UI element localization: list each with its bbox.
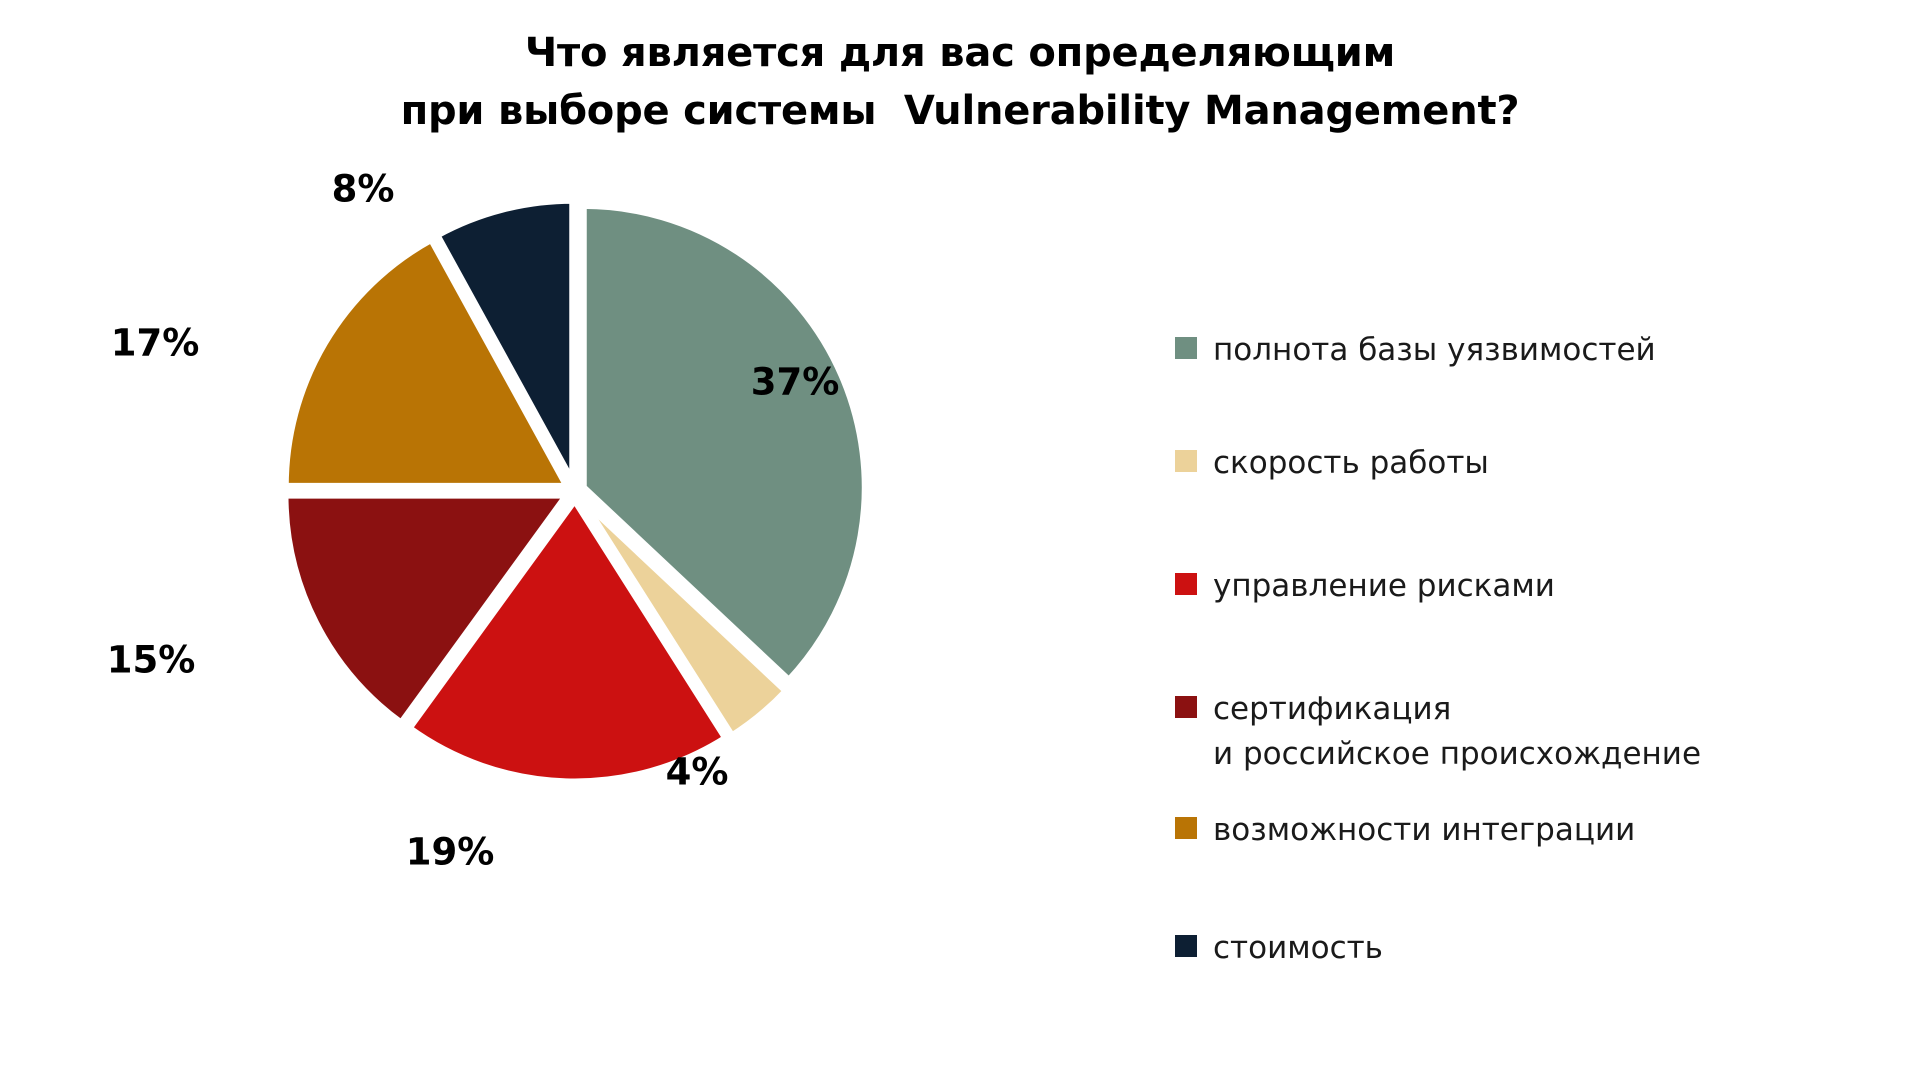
legend-item-label: скорость работы [1213, 441, 1489, 486]
pie-chart-svg [0, 0, 1920, 1080]
pie-chart: 37%4%19%15%17%8% [0, 0, 1920, 1080]
pie-value-label: 8% [332, 168, 395, 211]
pie-value-label: 17% [111, 322, 200, 365]
legend-swatch-icon [1175, 450, 1197, 472]
legend-item-label: стоимость [1213, 926, 1383, 971]
legend-item[interactable]: возможности интеграции [1175, 808, 1635, 853]
legend-swatch-icon [1175, 337, 1197, 359]
legend-item-label: полнота базы уязвимостей [1213, 328, 1656, 373]
legend-item-label: возможности интеграции [1213, 808, 1635, 853]
legend-item[interactable]: полнота базы уязвимостей [1175, 328, 1656, 373]
legend-item[interactable]: скорость работы [1175, 441, 1489, 486]
legend-swatch-icon [1175, 935, 1197, 957]
legend-item-label: сертификация и российское происхождение [1213, 687, 1701, 777]
pie-value-label: 4% [666, 751, 729, 794]
legend-swatch-icon [1175, 573, 1197, 595]
legend-item[interactable]: управление рисками [1175, 564, 1555, 609]
legend-item[interactable]: сертификация и российское происхождение [1175, 687, 1701, 777]
pie-value-label: 15% [107, 639, 196, 682]
legend-swatch-icon [1175, 817, 1197, 839]
slide-canvas: Что является для вас определяющим при вы… [0, 0, 1920, 1080]
pie-value-label: 19% [406, 831, 495, 874]
legend-item-label: управление рисками [1213, 564, 1555, 609]
pie-slice-group [285, 200, 865, 782]
legend-swatch-icon [1175, 696, 1197, 718]
pie-value-label: 37% [751, 361, 840, 404]
legend-item[interactable]: стоимость [1175, 926, 1383, 971]
